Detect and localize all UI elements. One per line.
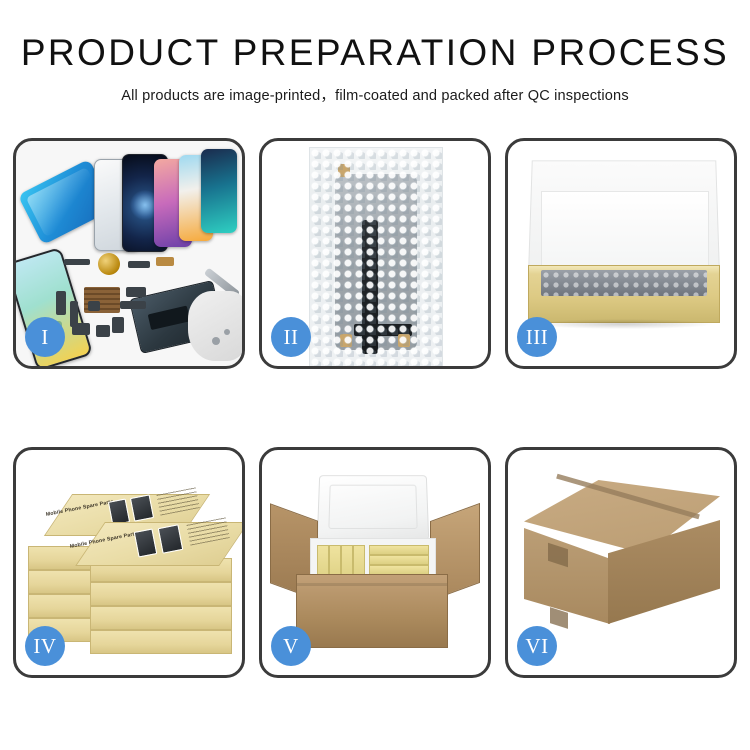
gold-component xyxy=(98,253,120,275)
step-badge-2: II xyxy=(271,317,311,357)
step-panel-3: III xyxy=(505,138,737,369)
page-title: PRODUCT PREPARATION PROCESS xyxy=(0,34,750,73)
foam-sheet xyxy=(541,191,709,271)
step-panel-1: I xyxy=(13,138,245,369)
part-speaker xyxy=(72,323,90,335)
part-screw-2 xyxy=(224,329,230,335)
part-button xyxy=(112,317,124,333)
phone-teal-gradient xyxy=(201,149,237,233)
page-header: PRODUCT PREPARATION PROCESS All products… xyxy=(0,0,750,105)
part-flex-cable-1 xyxy=(56,291,66,315)
step-badge-1: I xyxy=(25,317,65,357)
yellow-box-tray xyxy=(528,265,720,323)
step-badge-6: VI xyxy=(517,626,557,666)
bubble-wrap-contents xyxy=(541,270,707,296)
inner-box-h2 xyxy=(369,555,429,565)
drop-shadow xyxy=(534,319,712,329)
step-badge-4: IV xyxy=(25,626,65,666)
step-panel-2: II xyxy=(259,138,491,369)
part-module-1 xyxy=(126,287,146,297)
part-screw-1 xyxy=(212,337,220,345)
part-sensor xyxy=(88,301,100,311)
step-badge-3: III xyxy=(517,317,557,357)
process-steps-grid: I II III xyxy=(13,138,737,678)
inner-box-h1 xyxy=(369,545,429,555)
part-connector-1 xyxy=(64,259,90,265)
box-layer-3b xyxy=(90,582,232,606)
box-layer-5b xyxy=(90,630,232,654)
box-thumb-rear-2 xyxy=(130,494,154,521)
part-connector-2 xyxy=(128,261,150,268)
part-camera xyxy=(96,325,110,337)
bubble-wrap-bag xyxy=(309,147,443,366)
hand xyxy=(188,291,242,361)
part-gold-flex xyxy=(156,257,174,266)
carton-front-face xyxy=(296,574,448,648)
part-module-2 xyxy=(120,301,146,309)
carton-left-face xyxy=(524,528,610,624)
box-layer-4b xyxy=(90,606,232,630)
page-subtitle: All products are image-printed，film-coat… xyxy=(0,84,750,105)
styrofoam-lid xyxy=(317,475,429,540)
bubble-highlight-layer xyxy=(310,148,442,366)
step-panel-6: VI xyxy=(505,447,737,678)
step-panel-5: V xyxy=(259,447,491,678)
step-panel-4: Mobile Phone Spare Parts Mobile Phone Sp… xyxy=(13,447,245,678)
step-badge-5: V xyxy=(271,626,311,666)
